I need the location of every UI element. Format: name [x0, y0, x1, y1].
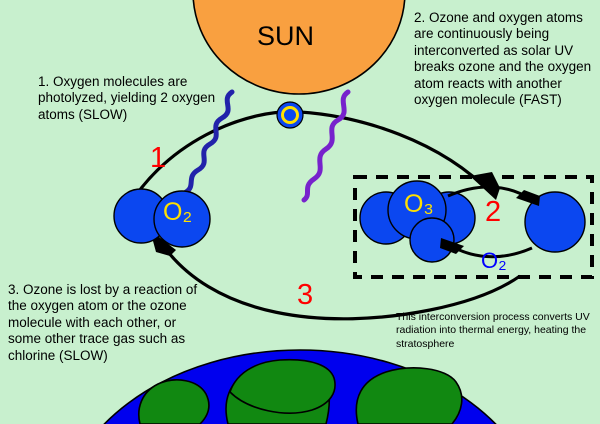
- ozone-cycle-diagram: 1. Oxygen molecules are photolyzed, yiel…: [0, 0, 600, 424]
- step-number-3: 3: [297, 279, 313, 312]
- step-1-note: 1. Oxygen molecules are photolyzed, yiel…: [38, 74, 218, 123]
- step-number-1: 1: [150, 142, 166, 175]
- interconversion-caption: This interconversion process converts UV…: [396, 311, 596, 351]
- step-2-note: 2. Ozone and oxygen atoms are continuous…: [414, 10, 600, 109]
- step-number-2: 2: [485, 196, 501, 229]
- sun-label: SUN: [257, 21, 314, 52]
- oxygen-atom: [277, 102, 303, 128]
- step-3-note: 3. Ozone is lost by a reaction of the ox…: [8, 282, 208, 364]
